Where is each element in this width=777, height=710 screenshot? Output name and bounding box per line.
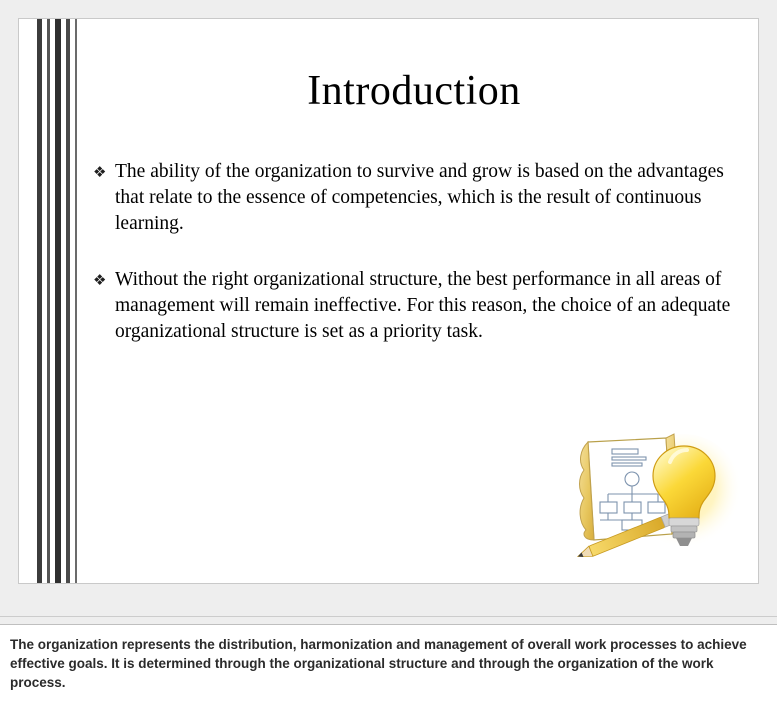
stripe-3 — [55, 19, 61, 583]
diamond-bullet-icon: ❖ — [89, 267, 115, 293]
stripe-4 — [66, 19, 70, 583]
caption-panel: The organization represents the distribu… — [0, 624, 777, 710]
stripe-2 — [47, 19, 50, 583]
bullet-list: ❖ The ability of the organization to sur… — [89, 159, 739, 375]
slide-left-stripe-decoration — [19, 19, 79, 583]
caption-text: The organization represents the distribu… — [10, 635, 763, 692]
bullet-text-1: The ability of the organization to survi… — [115, 159, 739, 237]
caption-divider — [0, 616, 777, 617]
stripe-1 — [37, 19, 42, 583]
blueprint-lightbulb-pencil-icon — [570, 416, 740, 571]
list-item: ❖ The ability of the organization to sur… — [89, 159, 739, 237]
bullet-text-2: Without the right organizational structu… — [115, 267, 739, 345]
list-item: ❖ Without the right organizational struc… — [89, 267, 739, 345]
stripe-5 — [75, 19, 77, 583]
slide-canvas: Introduction ❖ The ability of the organi… — [18, 18, 759, 584]
diamond-bullet-icon: ❖ — [89, 159, 115, 185]
slide-page: Introduction ❖ The ability of the organi… — [0, 0, 777, 710]
slide-title: Introduction — [89, 67, 739, 115]
